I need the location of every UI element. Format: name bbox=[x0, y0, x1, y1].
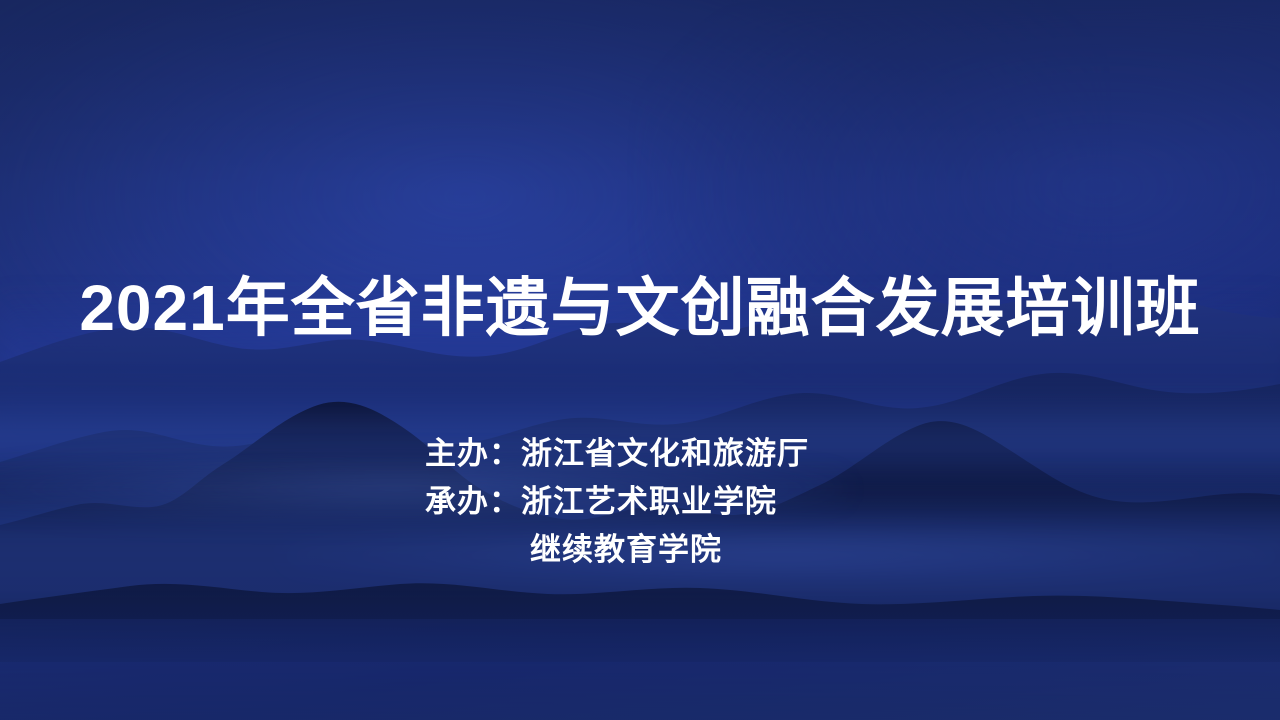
bottom-fade-overlay bbox=[0, 598, 1280, 720]
presentation-slide: 2021年全省非遗与文创融合发展培训班 主办：浙江省文化和旅游厅 承办：浙江艺术… bbox=[0, 0, 1280, 720]
subtitle-line-host: 承办：浙江艺术职业学院 bbox=[425, 478, 809, 526]
subtitle-line-host-department: 继续教育学院 bbox=[425, 526, 809, 574]
slide-title: 2021年全省非遗与文创融合发展培训班 bbox=[0, 275, 1280, 342]
subtitle-line-organizer: 主办：浙江省文化和旅游厅 bbox=[425, 430, 809, 478]
slide-subtitle-block: 主办：浙江省文化和旅游厅 承办：浙江艺术职业学院 继续教育学院 bbox=[425, 430, 809, 574]
